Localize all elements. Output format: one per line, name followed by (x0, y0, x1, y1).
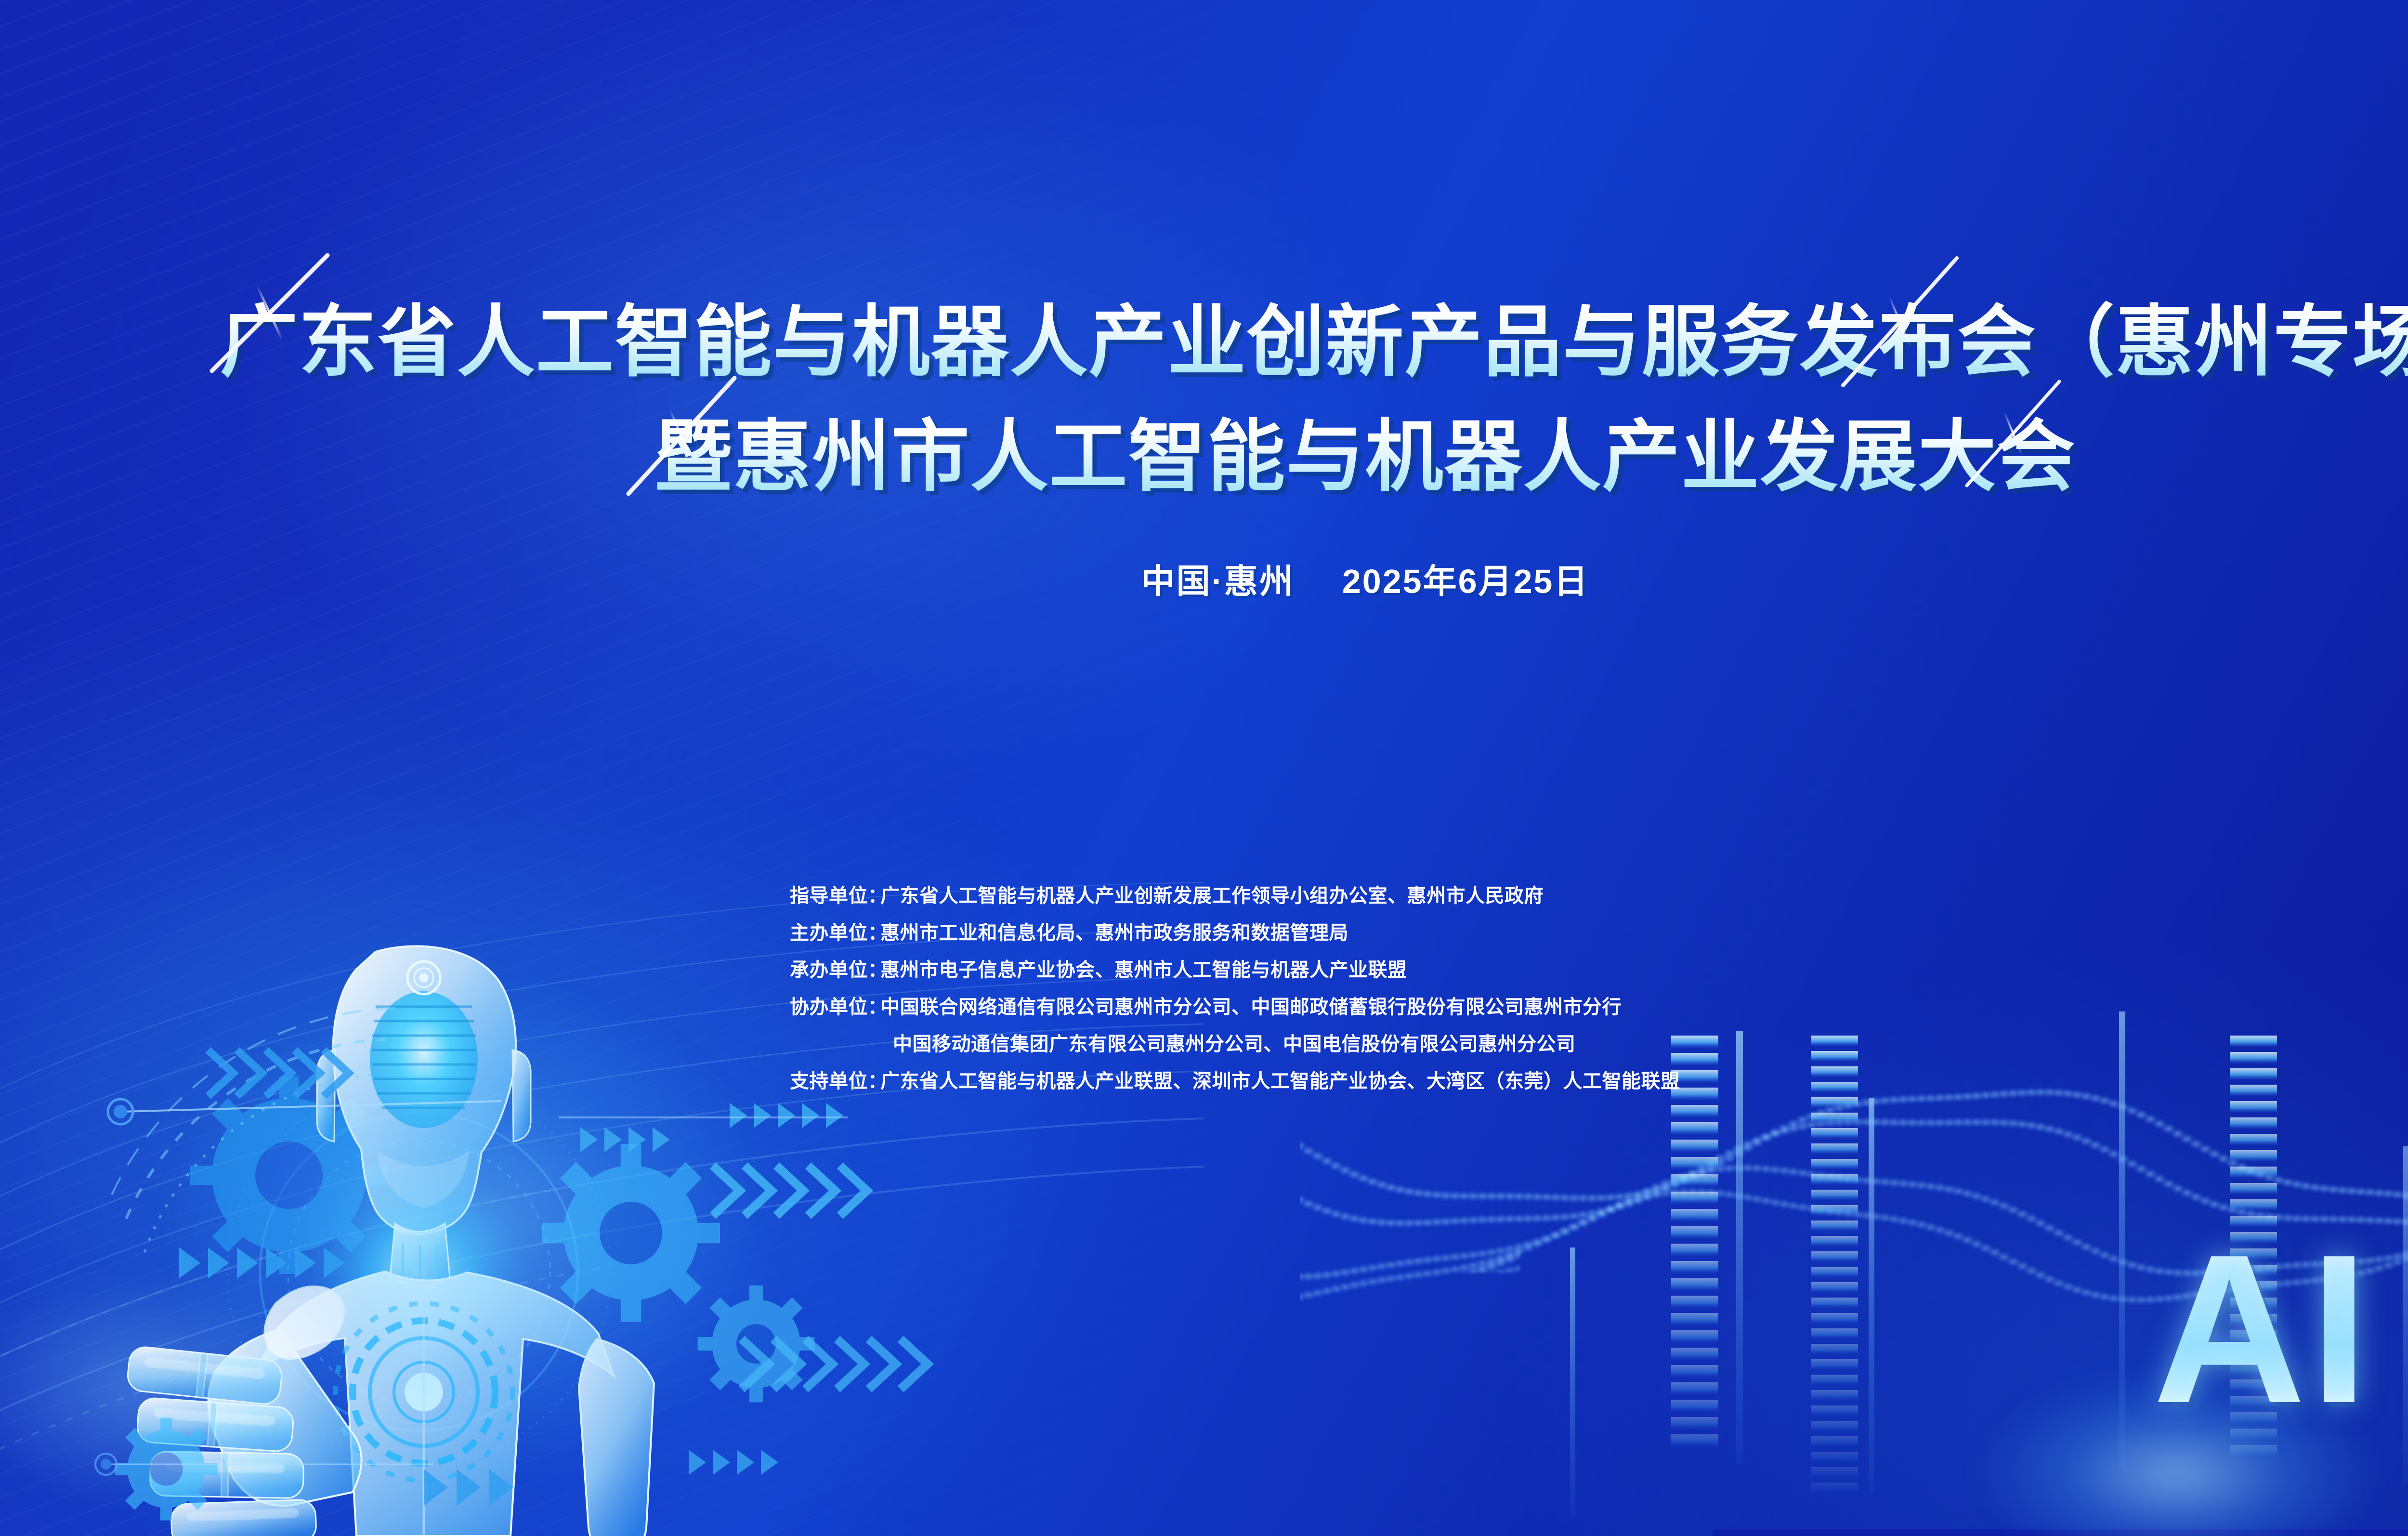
organizer-row: 指导单位：广东省人工智能与机器人产业创新发展工作领导小组办公室、惠州市人民政府 (790, 886, 2090, 906)
organizer-value: 广东省人工智能与机器人产业创新发展工作领导小组办公室、惠州市人民政府 (880, 886, 1544, 906)
organizer-label: 承办单位 (790, 960, 868, 980)
organizer-label: 指导单位 (790, 886, 868, 906)
organizer-row: 协办单位：中国联合网络通信有限公司惠州市分公司、中国邮政储蓄银行股份有限公司惠州… (790, 998, 2090, 1017)
event-location: 中国·惠州 (1141, 563, 1295, 600)
page-title: 广东省人工智能与机器人产业创新产品与服务发布会（惠州专场） 暨惠州市人工智能与机… (0, 285, 2408, 514)
title-line-2: 暨惠州市人工智能与机器人产业发展大会 (0, 400, 2408, 514)
organizer-row: 支持单位：广东省人工智能与机器人产业联盟、深圳市人工智能产业协会、大湾区（东莞）… (790, 1072, 2090, 1091)
organizer-row: 承办单位：惠州市电子信息产业协会、惠州市人工智能与机器人产业联盟 (790, 960, 2090, 980)
title-line-1: 广东省人工智能与机器人产业创新产品与服务发布会（惠州专场） (0, 285, 2408, 400)
organizer-colon: ： (868, 886, 880, 906)
organizer-value: 中国联合网络通信有限公司惠州市分公司、中国邮政储蓄银行股份有限公司惠州市分行 (880, 998, 1622, 1017)
organizer-colon: ： (868, 998, 880, 1017)
poster-canvas: AI (0, 0, 2408, 1536)
organizer-list: 指导单位：广东省人工智能与机器人产业创新发展工作领导小组办公室、惠州市人民政府主… (790, 886, 2090, 1091)
organizer-colon: ： (868, 960, 880, 980)
organizer-label: 主办单位 (790, 923, 868, 943)
organizer-value: 惠州市工业和信息化局、惠州市政务服务和数据管理局 (880, 923, 1348, 943)
organizer-value: 惠州市电子信息产业协会、惠州市人工智能与机器人产业联盟 (880, 960, 1407, 980)
organizer-label: 支持单位 (790, 1072, 868, 1091)
organizer-row: 中国移动通信集团广东有限公司惠州分公司、中国电信股份有限公司惠州分公司 (790, 1035, 2090, 1054)
organizer-value: 广东省人工智能与机器人产业联盟、深圳市人工智能产业协会、大湾区（东莞）人工智能联… (880, 1072, 1680, 1091)
organizer-colon: ： (868, 1072, 880, 1091)
event-date: 2025年6月25日 (1342, 563, 1589, 600)
event-subtitle: 中国·惠州 2025年6月25日 (0, 554, 2408, 603)
organizer-row: 主办单位：惠州市工业和信息化局、惠州市政务服务和数据管理局 (790, 923, 2090, 943)
organizer-label: 协办单位 (790, 998, 868, 1017)
humanoid-robot-illustration (87, 906, 761, 1536)
ai-wordmark: AI (2153, 1223, 2372, 1435)
organizer-value: 中国移动通信集团广东有限公司惠州分公司、中国电信股份有限公司惠州分公司 (893, 1035, 1576, 1054)
organizer-colon: ： (868, 923, 880, 943)
